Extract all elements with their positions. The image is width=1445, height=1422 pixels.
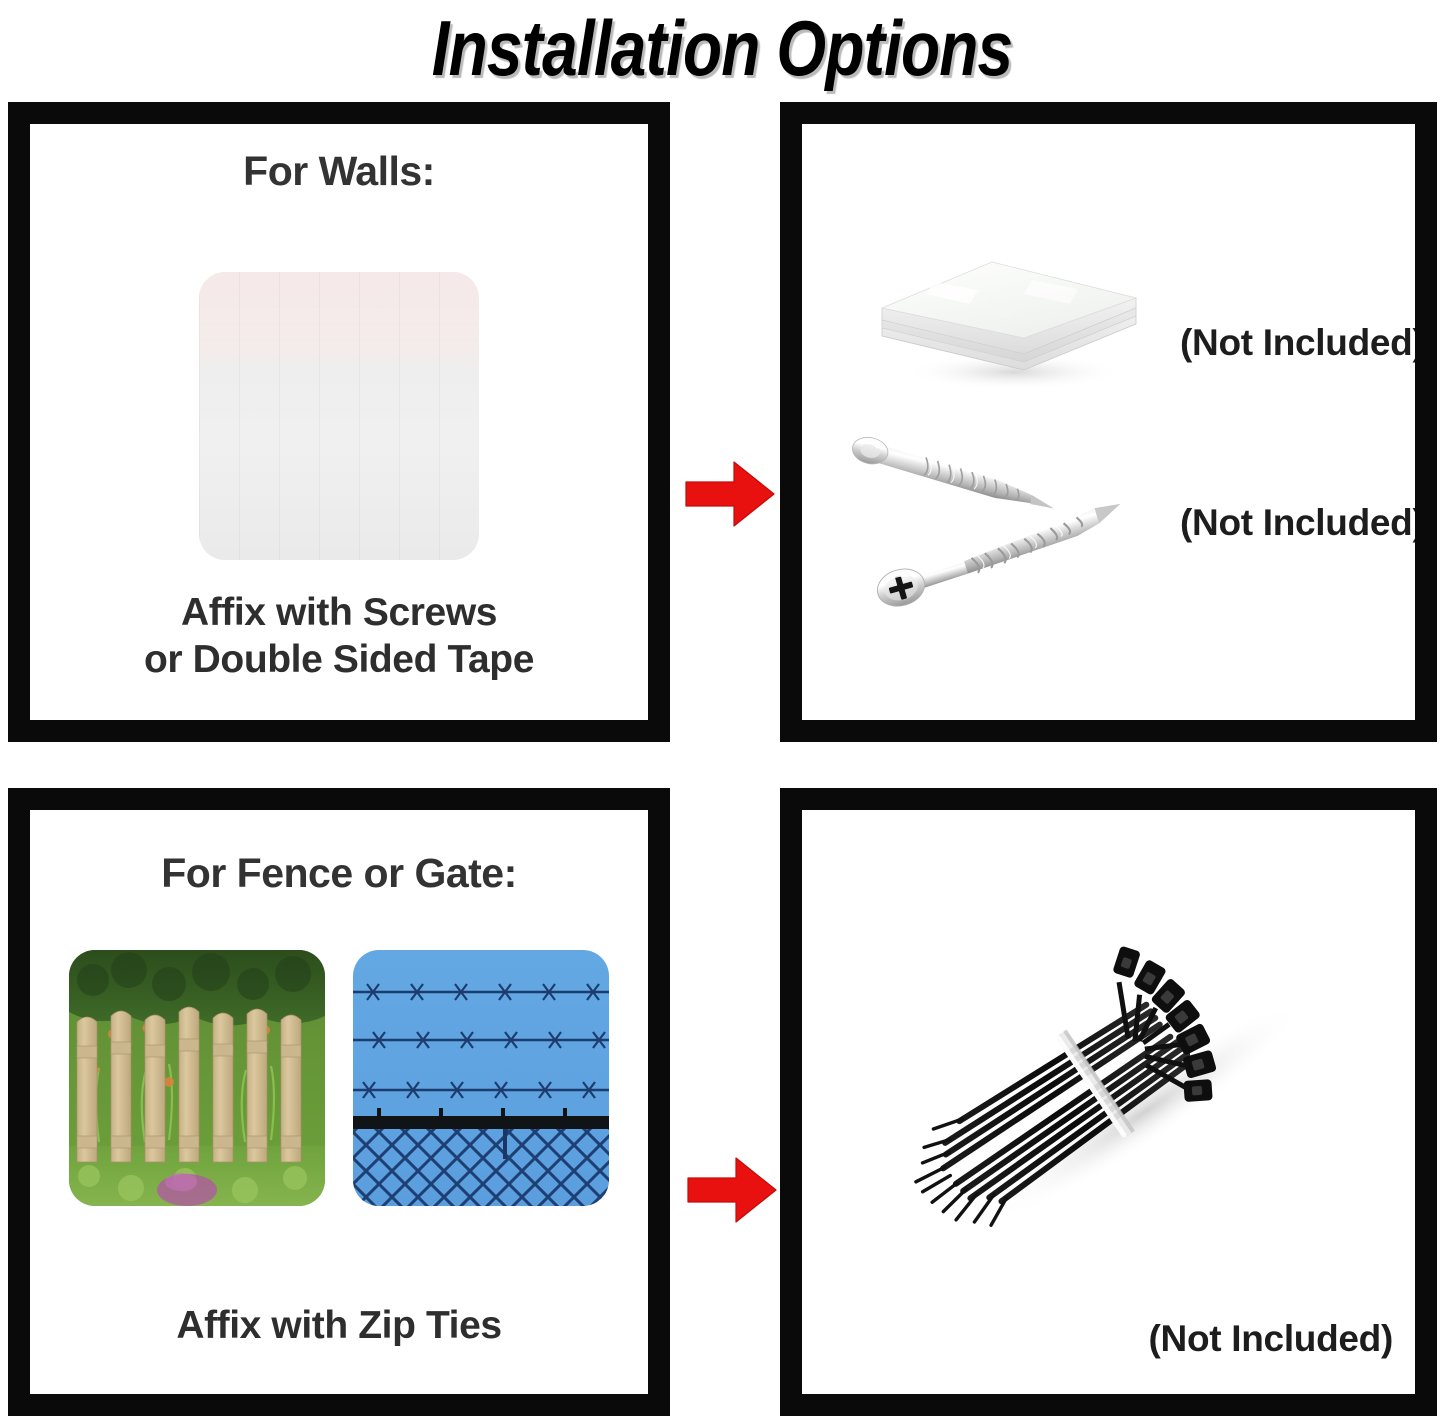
picket-fence-illustration [69, 950, 325, 1206]
tape-not-included-label: (Not Included) [1180, 322, 1415, 364]
fence-photo-row [30, 950, 648, 1206]
red-right-arrow-icon [684, 456, 776, 532]
screws-not-included-label: (Not Included) [1180, 502, 1415, 544]
wooden-picket-fence-photo [69, 950, 325, 1206]
zip-ties-icon [854, 862, 1374, 1302]
ziptie-not-included-label: (Not Included) [1149, 1318, 1393, 1360]
for-walls-caption: Affix with Screws or Double Sided Tape [30, 589, 648, 684]
for-walls-heading: For Walls: [30, 148, 648, 195]
tape-stack-icon [874, 232, 1142, 392]
chain-link-barbed-wire-fence-photo [353, 950, 609, 1206]
wood-screws-icon [848, 424, 1178, 614]
panel-for-walls-content: For Walls: Affix with Screws or Double S… [30, 124, 648, 720]
arrow-right-glyph [686, 1152, 778, 1228]
screws-image [848, 424, 1178, 614]
zip-tie-bundle-image [854, 862, 1374, 1302]
panel-zip-ties-content: (Not Included) [802, 810, 1415, 1394]
installation-options-grid: For Walls: Affix with Screws or Double S… [0, 98, 1445, 1422]
page-title-bar: Installation Options [0, 0, 1445, 96]
for-walls-caption-line-2: or Double Sided Tape [30, 636, 648, 684]
arrow-right-glyph [684, 456, 776, 532]
page-title: Installation Options [432, 9, 1013, 87]
panel-wall-hardware: (Not Included) [780, 102, 1437, 742]
panel-for-fence-or-gate-content: For Fence or Gate: [30, 810, 648, 1394]
chainlink-fence-illustration [353, 950, 609, 1206]
for-fence-caption-line-1: Affix with Zip Ties [30, 1302, 648, 1350]
for-fence-caption: Affix with Zip Ties [30, 1302, 648, 1350]
for-walls-caption-line-1: Affix with Screws [30, 589, 648, 637]
panel-zip-ties: (Not Included) [780, 788, 1437, 1416]
panel-for-fence-or-gate: For Fence or Gate: [8, 788, 670, 1416]
white-brick-wall-photo [199, 272, 479, 560]
red-right-arrow-icon [686, 1152, 778, 1228]
panel-for-walls: For Walls: Affix with Screws or Double S… [8, 102, 670, 742]
panel-wall-hardware-content: (Not Included) [802, 124, 1415, 720]
double-sided-tape-stack-image [874, 232, 1142, 392]
for-fence-heading: For Fence or Gate: [30, 850, 648, 897]
